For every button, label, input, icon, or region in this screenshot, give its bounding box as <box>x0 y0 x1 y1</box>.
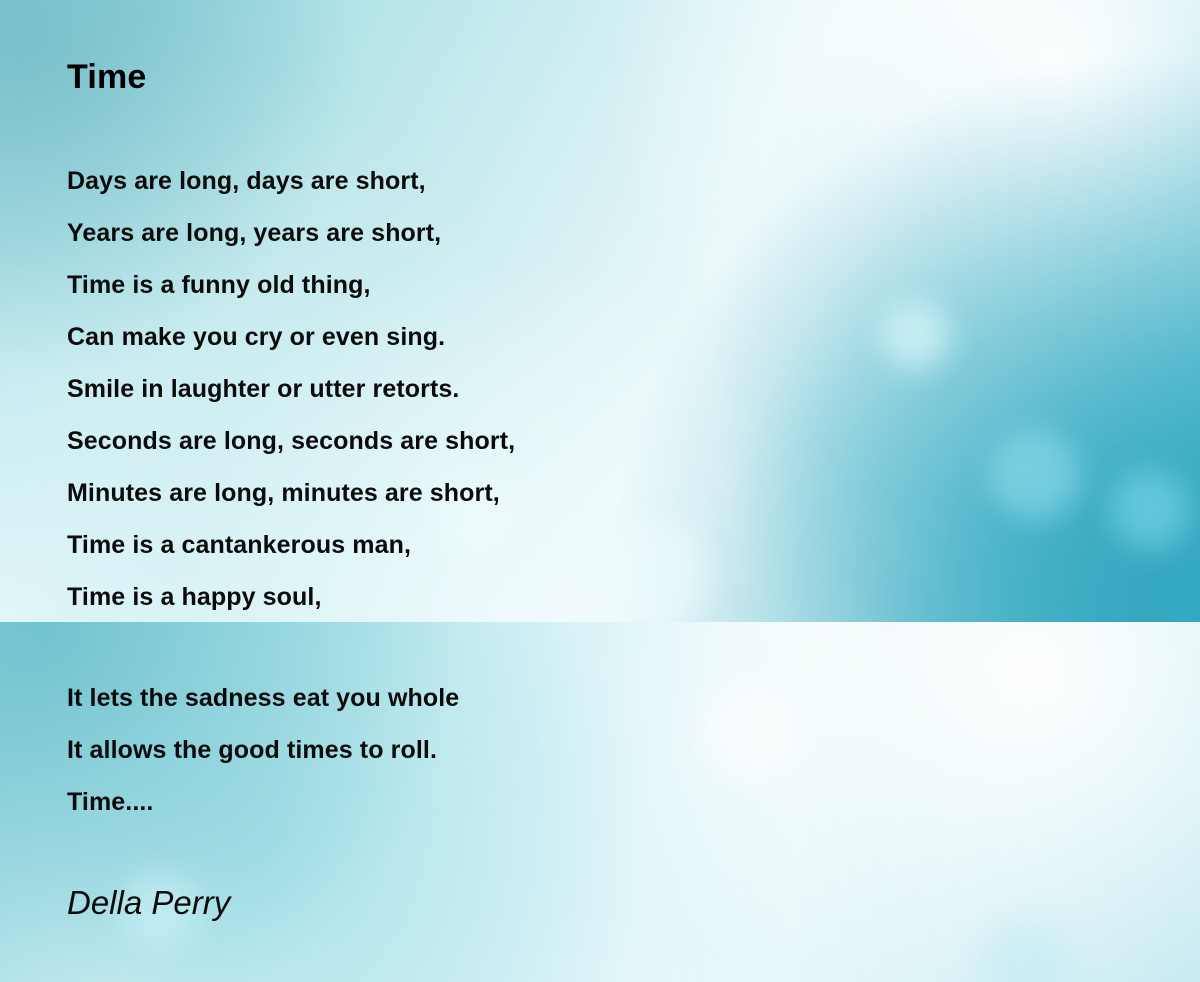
page-title: Time <box>67 56 147 98</box>
poem-line: Can make you cry or even sing. <box>67 311 515 363</box>
poem-line: Time is a cantankerous man, <box>67 519 515 571</box>
poem-author: Della Perry <box>67 882 230 924</box>
poem-page: Time Days are long, days are short, Year… <box>0 0 1200 982</box>
poem-line: Time is a happy soul, <box>67 571 515 623</box>
poem-line: Time is a funny old thing, <box>67 259 515 311</box>
poem-line: Minutes are long, minutes are short, <box>67 467 515 519</box>
poem-line: It lets the sadness eat you whole <box>67 672 459 724</box>
poem-content: Time Days are long, days are short, Year… <box>0 0 1200 982</box>
poem-line: It allows the good times to roll. <box>67 724 459 776</box>
poem-line: Seconds are long, seconds are short, <box>67 415 515 467</box>
poem-stanza-1: Days are long, days are short, Years are… <box>67 155 515 623</box>
poem-line: Smile in laughter or utter retorts. <box>67 363 515 415</box>
poem-line: Days are long, days are short, <box>67 155 515 207</box>
poem-stanza-2: It lets the sadness eat you whole It all… <box>67 672 459 828</box>
poem-line: Years are long, years are short, <box>67 207 515 259</box>
poem-line: Time.... <box>67 776 459 828</box>
